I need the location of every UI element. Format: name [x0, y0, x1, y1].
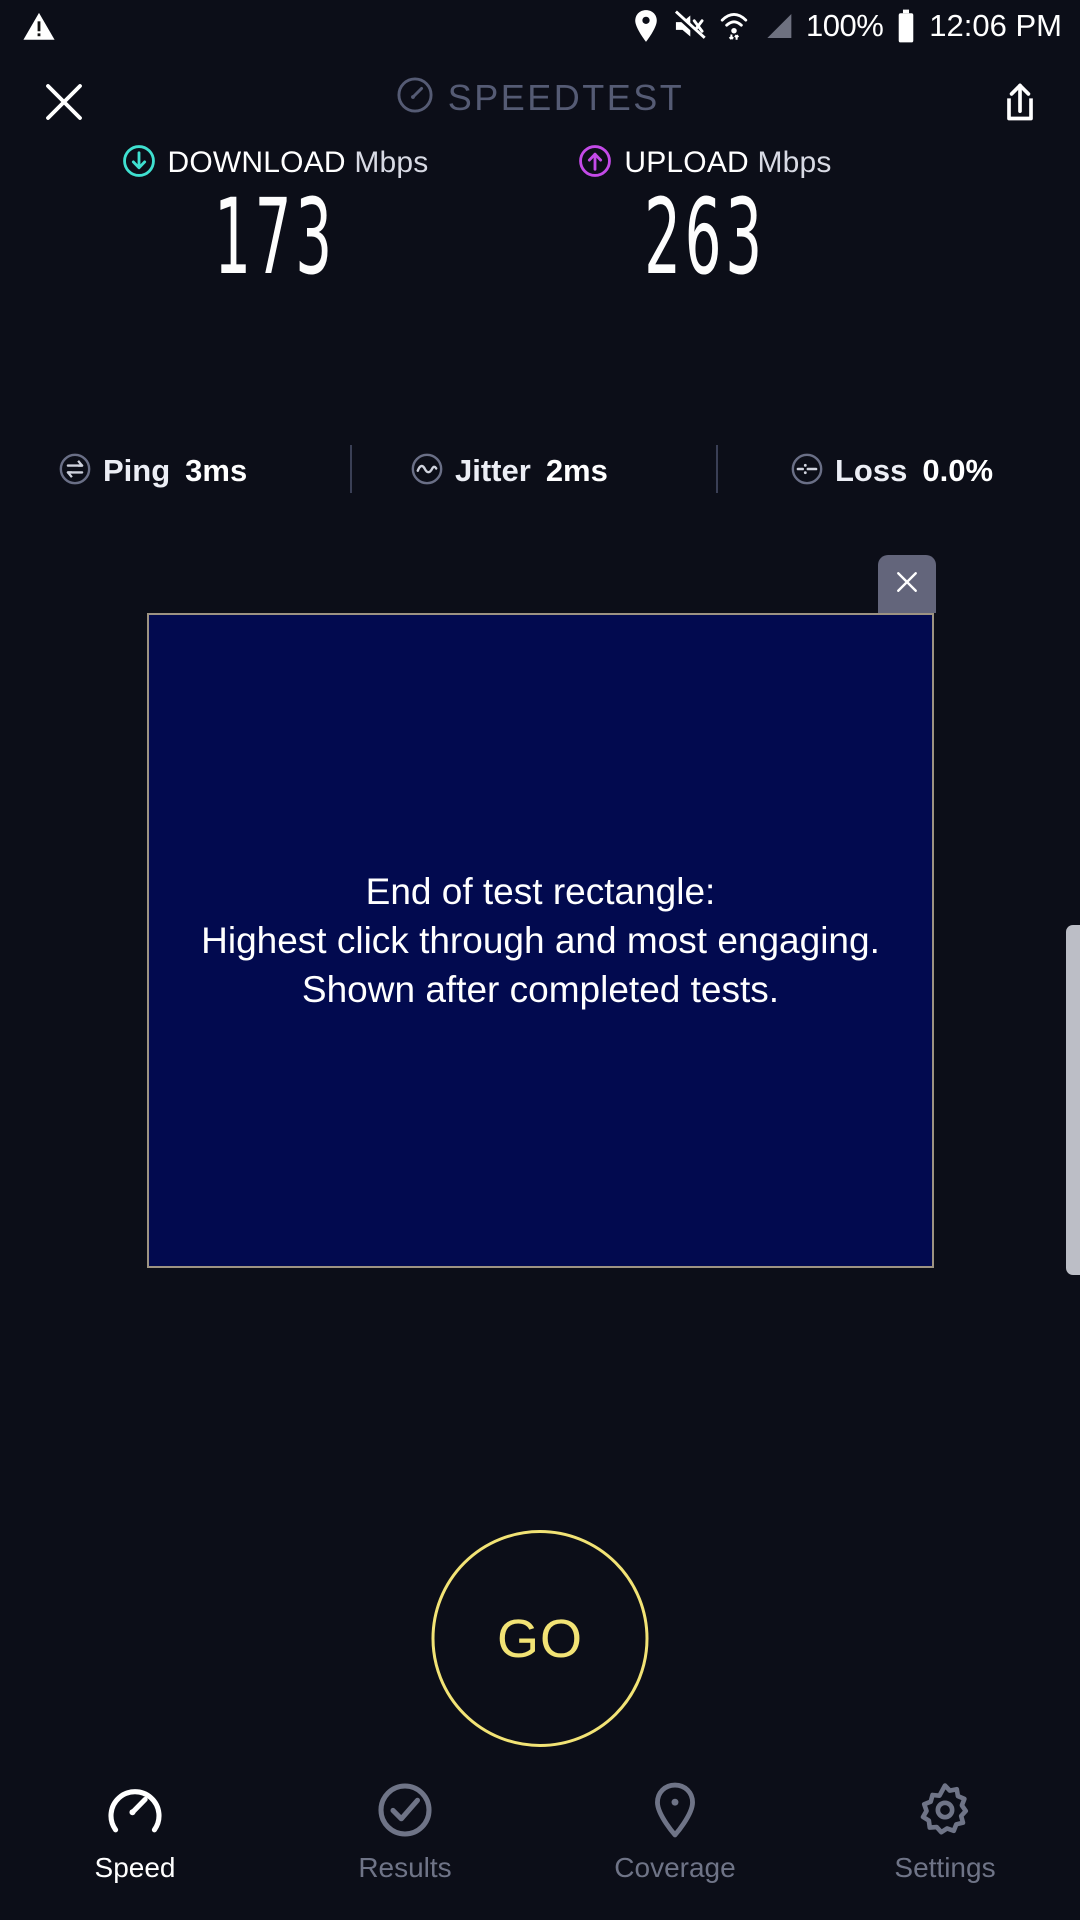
nav-label-coverage: Coverage	[614, 1852, 735, 1884]
warning-triangle-icon	[22, 10, 56, 44]
battery-full-icon	[895, 9, 917, 43]
ping-icon	[58, 452, 92, 491]
upload-unit: Mbps	[757, 146, 831, 179]
status-bar-right: 100% 12:06 PM	[632, 8, 1062, 44]
advertisement-banner[interactable]: End of test rectangle: Highest click thr…	[147, 613, 934, 1268]
share-button[interactable]	[986, 70, 1054, 138]
download-upload-row: DOWNLOAD Mbps 173 UP	[0, 142, 1080, 272]
nav-label-settings: Settings	[894, 1852, 995, 1884]
ping-jitter-loss-row: Ping 3ms Jitter 2ms	[0, 439, 1080, 503]
jitter-icon	[410, 452, 444, 491]
jitter-value: 2ms	[546, 453, 608, 489]
nav-label-results: Results	[358, 1852, 451, 1884]
download-arrow-circle-icon	[122, 144, 156, 183]
ad-close-button[interactable]	[878, 555, 936, 613]
loss-metric: Loss 0.0%	[790, 439, 993, 503]
divider	[350, 445, 352, 493]
loss-icon	[790, 452, 824, 491]
advertisement-text: End of test rectangle: Highest click thr…	[181, 867, 900, 1015]
nav-label-speed: Speed	[95, 1852, 176, 1884]
advertisement-container: End of test rectangle: Highest click thr…	[147, 613, 934, 1268]
ping-metric: Ping 3ms	[58, 439, 247, 503]
wifi-icon	[718, 9, 750, 43]
download-label-text: DOWNLOAD	[168, 146, 346, 179]
upload-label-text: UPLOAD	[624, 146, 749, 179]
nav-item-results[interactable]: Results	[270, 1762, 540, 1920]
speedometer-icon	[105, 1780, 165, 1840]
download-label: DOWNLOAD Mbps	[168, 146, 429, 180]
gear-icon	[915, 1780, 975, 1840]
divider	[716, 445, 718, 493]
upload-value: 263	[562, 190, 847, 286]
edge-drag-handle[interactable]	[1066, 925, 1080, 1275]
speedometer-icon	[396, 76, 434, 119]
go-button-label: GO	[497, 1608, 583, 1670]
results-summary: DOWNLOAD Mbps 173 UP	[0, 142, 1080, 272]
bottom-navigation: Speed Results Coverage	[0, 1762, 1080, 1920]
status-bar-clock: 12:06 PM	[929, 8, 1062, 44]
notifications-muted-icon	[672, 10, 706, 42]
speedtest-app-screen: 100% 12:06 PM	[0, 0, 1080, 1920]
download-unit: Mbps	[354, 146, 428, 179]
cellular-signal-icon	[762, 11, 794, 41]
ping-value: 3ms	[185, 453, 247, 489]
go-button[interactable]: GO	[432, 1530, 649, 1747]
loss-value: 0.0%	[922, 453, 993, 489]
share-icon	[998, 80, 1042, 129]
nav-item-settings[interactable]: Settings	[810, 1762, 1080, 1920]
check-circle-icon	[375, 1780, 435, 1840]
nav-item-speed[interactable]: Speed	[0, 1762, 270, 1920]
map-pin-icon	[645, 1780, 705, 1840]
download-value: 173	[132, 190, 417, 286]
status-bar: 100% 12:06 PM	[0, 0, 1080, 62]
app-header: SPEEDTEST	[0, 62, 1080, 142]
close-icon	[892, 567, 922, 602]
upload-arrow-circle-icon	[578, 144, 612, 183]
jitter-label: Jitter	[455, 453, 531, 489]
brand-text: SPEEDTEST	[448, 77, 685, 119]
ping-label: Ping	[103, 453, 170, 489]
brand-wordmark: SPEEDTEST	[0, 76, 1080, 119]
battery-percent-label: 100%	[806, 8, 883, 44]
download-metric: DOWNLOAD Mbps 173	[45, 142, 505, 286]
loss-label: Loss	[835, 453, 907, 489]
jitter-metric: Jitter 2ms	[410, 439, 608, 503]
status-bar-left	[22, 10, 56, 49]
upload-metric: UPLOAD Mbps 263	[475, 142, 935, 286]
nav-item-coverage[interactable]: Coverage	[540, 1762, 810, 1920]
location-pin-icon	[632, 9, 660, 43]
upload-label: UPLOAD Mbps	[624, 146, 831, 180]
